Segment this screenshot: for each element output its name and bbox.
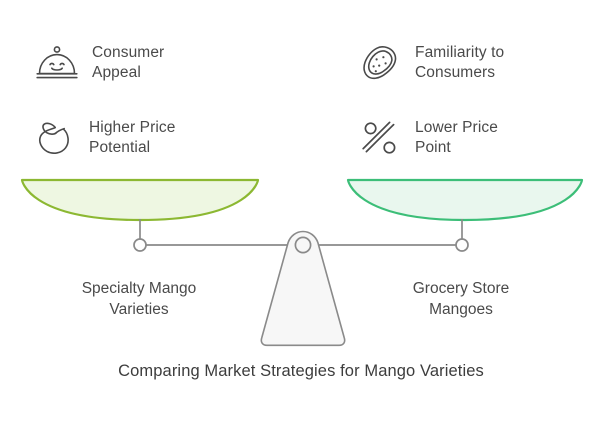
fulcrum-pivot — [295, 237, 310, 252]
right-pan-label: Grocery Store Mangoes — [346, 278, 576, 321]
right-beam-knob — [456, 239, 468, 251]
chart-caption: Comparing Market Strategies for Mango Va… — [0, 362, 602, 381]
left-pan-label: Specialty Mango Varieties — [24, 278, 254, 321]
right-pan — [348, 180, 582, 220]
balance-scale-infographic: Consumer Appeal Higher Price Potential — [0, 0, 602, 434]
left-beam-knob — [134, 239, 146, 251]
left-pan — [22, 180, 258, 220]
